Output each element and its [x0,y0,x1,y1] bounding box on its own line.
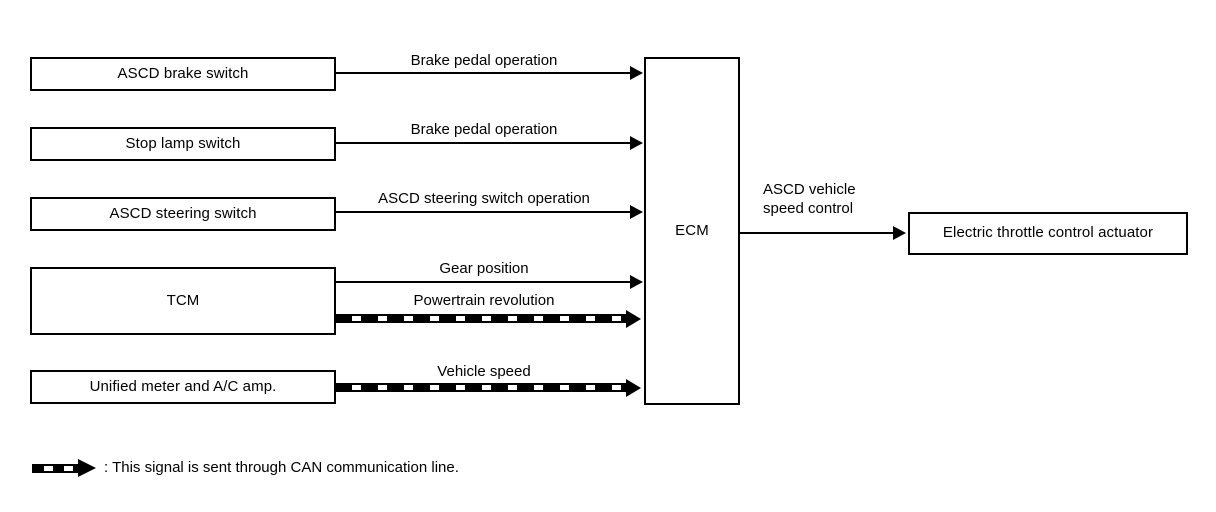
can-dash [508,316,517,321]
arrow-head-vehicle-speed [626,379,641,397]
legend-text: : This signal is sent through CAN commun… [104,459,459,477]
can-dash [378,385,387,390]
can-dash [352,385,361,390]
can-dash [404,385,413,390]
arrow-head-brake-pedal-operation-2 [630,136,643,150]
arrow-head-powertrain-revolution [626,310,641,328]
block-label: TCM [167,293,200,310]
block-stop-lamp-switch: Stop lamp switch [30,127,336,161]
block-unified-meter-and-ac-amp: Unified meter and A/C amp. [30,370,336,404]
can-dash [456,385,465,390]
can-dash [430,316,439,321]
can-legend-bar [32,464,80,473]
can-dash [612,316,621,321]
signal-line-vehicle-speed [336,383,630,392]
can-dash [560,385,569,390]
can-dash [64,466,73,471]
arrow-head-gear-position [630,275,643,289]
block-label: ASCD steering switch [109,206,256,223]
can-dash [508,385,517,390]
signal-label-brake-pedal-operation-2: Brake pedal operation [336,121,632,138]
signal-label-line1: ASCD vehicle [763,180,856,199]
arrow-head-ascd-steering-switch-operation [630,205,643,219]
can-dash [612,385,621,390]
signal-line-ascd-vehicle-speed-control [740,232,895,234]
can-dash [482,316,491,321]
can-dash [430,385,439,390]
ascd-system-diagram: ASCD brake switch Stop lamp switch ASCD … [0,0,1216,512]
signal-label-ascd-vehicle-speed-control: ASCD vehicle speed control [763,180,856,218]
signal-label-vehicle-speed: Vehicle speed [336,363,632,380]
legend: : This signal is sent through CAN commun… [32,459,459,477]
block-ascd-brake-switch: ASCD brake switch [30,57,336,91]
can-communication-arrow-icon [32,459,96,477]
can-dash [456,316,465,321]
block-tcm: TCM [30,267,336,335]
can-dash [534,316,543,321]
signal-line-gear-position [336,281,632,283]
signal-label-gear-position: Gear position [336,260,632,277]
can-legend-arrow-head [78,459,96,477]
block-label: Electric throttle control actuator [943,225,1153,242]
signal-label-brake-pedal-operation-1: Brake pedal operation [336,52,632,69]
signal-line-ascd-steering-switch-operation [336,211,632,213]
can-dash [586,316,595,321]
block-ecm: ECM [644,57,740,405]
can-dash [482,385,491,390]
block-label: Stop lamp switch [126,136,241,153]
block-label: ASCD brake switch [118,66,249,83]
can-dash [44,466,53,471]
signal-label-line2: speed control [763,199,856,218]
signal-label-powertrain-revolution: Powertrain revolution [336,292,632,309]
can-dash [404,316,413,321]
signal-label-ascd-steering-switch-operation: ASCD steering switch operation [336,190,632,207]
signal-line-brake-pedal-operation-1 [336,72,632,74]
block-label: ECM [675,223,709,240]
arrow-head-ascd-vehicle-speed-control [893,226,906,240]
block-electric-throttle-control-actuator: Electric throttle control actuator [908,212,1188,255]
signal-line-powertrain-revolution [336,314,630,323]
can-dash [586,385,595,390]
can-dash [534,385,543,390]
block-ascd-steering-switch: ASCD steering switch [30,197,336,231]
can-dash [352,316,361,321]
can-dash [378,316,387,321]
signal-line-brake-pedal-operation-2 [336,142,632,144]
block-label: Unified meter and A/C amp. [90,379,277,396]
can-dash [560,316,569,321]
